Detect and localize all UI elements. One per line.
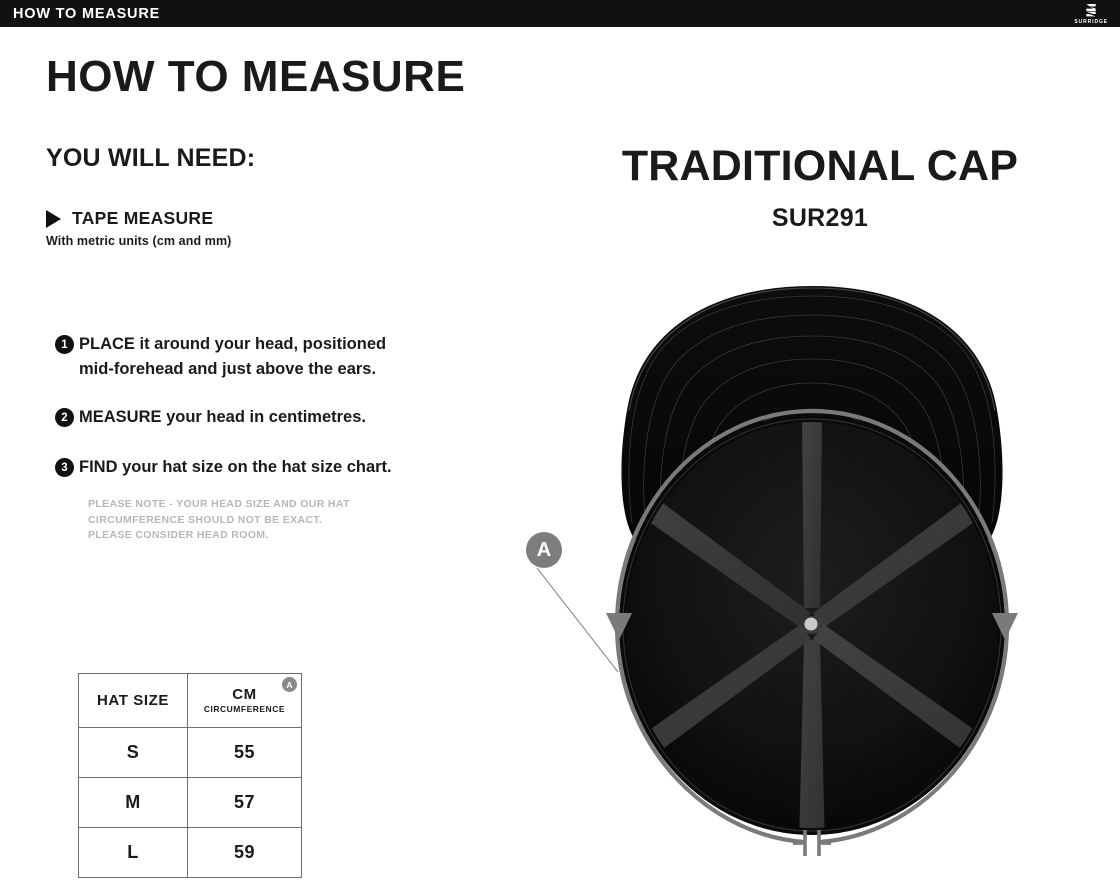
step-number-badge: 1 <box>55 335 74 354</box>
cell-hat-size: L <box>79 828 188 878</box>
product-code: SUR291 <box>520 204 1120 233</box>
tool-block: TAPE MEASURE With metric units (cm and m… <box>46 208 516 248</box>
column-header-hat-size-label: HAT SIZE <box>79 692 187 709</box>
top-header-bar: HOW TO MEASURE SURRIDGE <box>0 0 1120 27</box>
brand-s-mark-icon <box>1084 2 1098 18</box>
instructions-column: HOW TO MEASURE YOU WILL NEED: TAPE MEASU… <box>46 55 516 543</box>
product-title: TRADITIONAL CAP <box>520 145 1120 188</box>
step-number-badge: 3 <box>55 458 74 477</box>
tool-name: TAPE MEASURE <box>72 208 213 229</box>
tool-subtitle: With metric units (cm and mm) <box>46 234 516 248</box>
step-text: FIND your hat size on the hat size chart… <box>79 455 392 480</box>
cap-diagram-svg <box>505 268 1120 883</box>
cell-value: M <box>125 792 140 812</box>
page-title: HOW TO MEASURE <box>46 55 516 99</box>
column-header-cm-sublabel: CIRCUMFERENCE <box>188 704 301 714</box>
table-row: M 57 <box>79 778 302 828</box>
triangle-right-icon <box>46 210 61 228</box>
list-item: 1 PLACE it around your head, positioned … <box>55 332 516 382</box>
table-row: L 59 <box>79 828 302 878</box>
cell-cm: 57 <box>187 778 301 828</box>
cell-value: L <box>127 842 138 862</box>
product-heading-block: TRADITIONAL CAP SUR291 <box>520 145 1120 233</box>
tool-row: TAPE MEASURE <box>46 208 516 229</box>
callout-leader-line <box>537 568 618 672</box>
callout-badge-a: A <box>526 532 562 568</box>
list-item: 3 FIND your hat size on the hat size cha… <box>55 455 516 480</box>
step-text: PLACE it around your head, positioned mi… <box>79 332 399 382</box>
cell-cm: 59 <box>187 828 301 878</box>
you-will-need-heading: YOU WILL NEED: <box>46 146 516 171</box>
column-header-cm: CM CIRCUMFERENCE A <box>187 674 301 728</box>
brand-wordmark: SURRIDGE <box>1074 20 1108 25</box>
steps-list: 1 PLACE it around your head, positioned … <box>55 332 516 543</box>
step-number-badge: 2 <box>55 408 74 427</box>
cap-top-view-icon <box>505 268 1120 883</box>
topbar-title: HOW TO MEASURE <box>13 6 160 22</box>
list-item: 2 MEASURE your head in centimetres. <box>55 405 516 430</box>
cell-value: 59 <box>234 842 255 862</box>
step-text: MEASURE your head in centimetres. <box>79 405 366 430</box>
cap-crown-icon <box>615 415 1009 848</box>
cell-value: 55 <box>234 742 255 762</box>
table-row: S 55 <box>79 728 302 778</box>
column-header-hat-size: HAT SIZE <box>79 674 188 728</box>
table-header-row: HAT SIZE CM CIRCUMFERENCE A <box>79 674 302 728</box>
reference-badge-a: A <box>282 677 297 692</box>
cell-hat-size: M <box>79 778 188 828</box>
cell-hat-size: S <box>79 728 188 778</box>
brand-s-glyph-icon <box>1084 2 1098 18</box>
please-note-text: PLEASE NOTE - YOUR HEAD SIZE AND OUR HAT… <box>88 497 516 543</box>
crown-button-icon <box>805 618 818 631</box>
cell-value: S <box>127 742 139 762</box>
hat-size-chart: HAT SIZE CM CIRCUMFERENCE A S 55 M 57 L … <box>78 673 302 878</box>
cell-cm: 55 <box>187 728 301 778</box>
cell-value: 57 <box>234 792 255 812</box>
brand-logo: SURRIDGE <box>1074 2 1108 25</box>
